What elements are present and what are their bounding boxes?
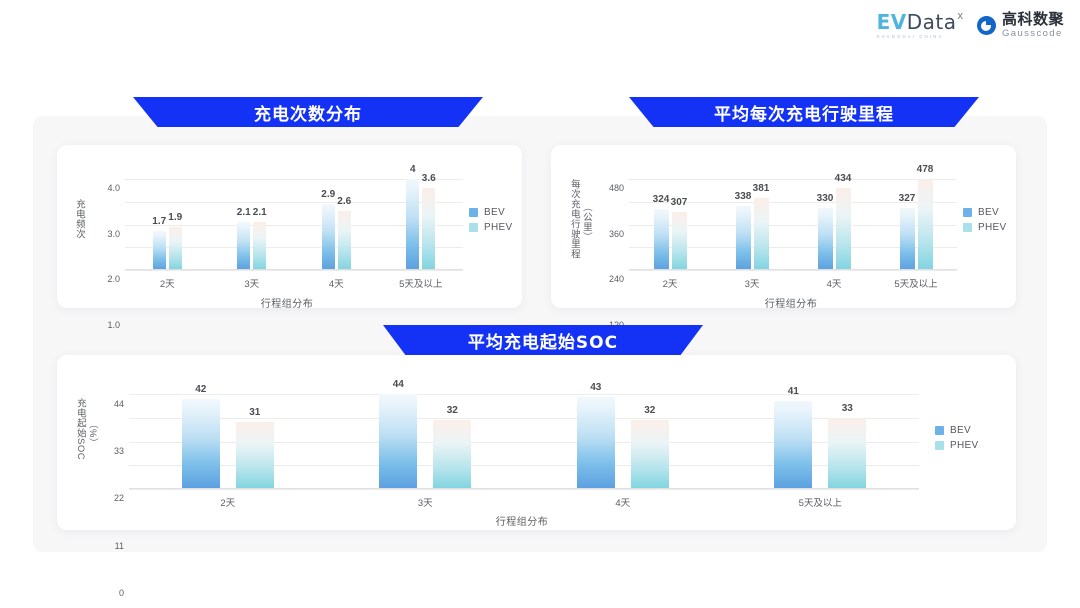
chart-charging-frequency: 充电频次 0.01.02.03.04.01.71.92.12.12.92.643… bbox=[57, 145, 522, 308]
x-axis-tick-label: 3天 bbox=[711, 276, 793, 290]
chart-title-banner-avg-range: 平均每次充电行驶里程 bbox=[629, 97, 979, 127]
legend-item-phev[interactable]: PHEV bbox=[469, 222, 512, 233]
bar-group: 1.71.9 bbox=[125, 170, 210, 270]
legend-label: BEV bbox=[484, 207, 505, 218]
legend-label: PHEV bbox=[950, 440, 978, 451]
chart-legend: BEVPHEV bbox=[469, 207, 512, 233]
y-axis-tick-label: 0 bbox=[119, 588, 124, 598]
x-axis-tick-label: 2天 bbox=[629, 276, 711, 290]
gausscode-en-name: Gausscode bbox=[1002, 29, 1064, 39]
chart-title-text: 平均充电起始SOC bbox=[468, 328, 618, 353]
gausscode-cn-name: 高科数聚 bbox=[1002, 12, 1064, 27]
legend-label: BEV bbox=[950, 425, 971, 436]
x-axis-tick-label: 4天 bbox=[524, 495, 722, 509]
bar-bev: 41 bbox=[774, 401, 812, 489]
chart-avg-start-soc: 充电起始SOC （%） 0112233444231443243324133 2天… bbox=[57, 355, 1016, 530]
bar-bev: 42 bbox=[182, 399, 220, 489]
gridline: 0 bbox=[629, 270, 957, 271]
bar-phev: 33 bbox=[828, 418, 866, 489]
x-axis-tick-labels: 2天3天4天5天及以上 bbox=[629, 276, 957, 290]
bar-groups: 4231443243324133 bbox=[129, 385, 919, 489]
bar-groups: 324307338381330434327478 bbox=[629, 170, 957, 270]
x-axis-baseline bbox=[629, 269, 957, 270]
legend-item-bev[interactable]: BEV bbox=[935, 425, 978, 436]
y-axis-tick-label: 240 bbox=[609, 274, 624, 284]
bar-value-label: 434 bbox=[835, 173, 852, 184]
x-axis-tick-label: 2天 bbox=[129, 495, 327, 509]
bar-value-label: 338 bbox=[735, 191, 752, 202]
y-axis-tick-label: 11 bbox=[115, 541, 124, 551]
legend-swatch-icon bbox=[935, 426, 944, 435]
y-axis-tick-label: 33 bbox=[114, 446, 124, 456]
bar-bev: 324 bbox=[654, 209, 669, 270]
y-axis-tick-label: 2.0 bbox=[107, 274, 120, 284]
y-axis-tick-label: 22 bbox=[114, 493, 124, 503]
chart-card-avg-range: 每次充电行驶里程 （公里） 01202403604803243073383813… bbox=[551, 145, 1016, 308]
plot-area: 0120240360480324307338381330434327478 bbox=[629, 170, 957, 270]
bar-bev: 330 bbox=[818, 208, 833, 271]
x-axis-title: 行程组分布 bbox=[97, 295, 477, 310]
bar-value-label: 1.9 bbox=[168, 212, 182, 223]
legend-item-bev[interactable]: BEV bbox=[963, 207, 1006, 218]
bar-phev: 2.6 bbox=[338, 211, 351, 270]
gridline: 0.0 bbox=[125, 270, 463, 271]
evdata-superscript-x: x bbox=[957, 10, 963, 22]
bar-phev: 32 bbox=[433, 420, 471, 489]
y-axis-tick-label: 480 bbox=[609, 183, 624, 193]
y-axis-tick-label: 3.0 bbox=[107, 229, 120, 239]
bar-value-label: 2.1 bbox=[253, 207, 267, 218]
bar-bev: 2.1 bbox=[237, 222, 250, 270]
bar-bev: 4 bbox=[406, 179, 419, 270]
bar-value-label: 4 bbox=[410, 164, 416, 175]
evdata-data-text: Data bbox=[907, 12, 957, 32]
x-axis-title: 行程组分布 bbox=[601, 295, 981, 310]
bar-value-label: 2.9 bbox=[321, 189, 335, 200]
bar-value-label: 2.1 bbox=[237, 207, 251, 218]
chart-title-text: 充电次数分布 bbox=[254, 100, 362, 125]
bar-group: 43.6 bbox=[379, 170, 464, 270]
y-axis-tick-label: 44 bbox=[114, 399, 124, 409]
y-axis-label-line1: 每次充电行驶里程 bbox=[568, 167, 579, 271]
bar-phev: 31 bbox=[236, 422, 274, 489]
bar-value-label: 327 bbox=[899, 193, 916, 204]
y-axis-tick-label: 1.0 bbox=[107, 320, 120, 330]
bar-value-label: 41 bbox=[788, 386, 799, 397]
evdata-logo: EV Data x shanghai china bbox=[877, 12, 963, 39]
legend-item-phev[interactable]: PHEV bbox=[935, 440, 978, 451]
bar-value-label: 307 bbox=[671, 197, 688, 208]
bar-value-label: 42 bbox=[195, 384, 206, 395]
y-axis-label-line1: 充电起始SOC bbox=[74, 383, 85, 475]
x-axis-tick-label: 5天及以上 bbox=[379, 276, 464, 290]
x-axis-tick-label: 3天 bbox=[327, 495, 525, 509]
bar-group: 2.92.6 bbox=[294, 170, 379, 270]
gausscode-logo: 高科数聚 Gausscode bbox=[977, 12, 1064, 39]
bar-group: 338381 bbox=[711, 170, 793, 270]
bar-value-label: 32 bbox=[447, 405, 458, 416]
x-axis-tick-labels: 2天3天4天5天及以上 bbox=[129, 495, 919, 509]
legend-swatch-icon bbox=[935, 441, 944, 450]
x-axis-baseline bbox=[129, 488, 919, 489]
legend-label: BEV bbox=[978, 207, 999, 218]
plot-area: 0.01.02.03.04.01.71.92.12.12.92.643.6 bbox=[125, 170, 463, 270]
bar-value-label: 33 bbox=[842, 403, 853, 414]
chart-title-banner-avg-start-soc: 平均充电起始SOC bbox=[383, 325, 703, 355]
bar-group: 4231 bbox=[129, 385, 327, 489]
chart-title-text: 平均每次充电行驶里程 bbox=[714, 100, 894, 125]
bar-value-label: 381 bbox=[753, 183, 770, 194]
brand-logo-bar: EV Data x shanghai china 高科数聚 Gausscode bbox=[877, 12, 1064, 39]
legend-label: PHEV bbox=[484, 222, 512, 233]
bar-value-label: 43 bbox=[590, 382, 601, 393]
y-axis-tick-label: 360 bbox=[609, 229, 624, 239]
bar-value-label: 2.6 bbox=[337, 196, 351, 207]
bar-value-label: 3.6 bbox=[422, 173, 436, 184]
chart-legend: BEVPHEV bbox=[935, 425, 978, 451]
bar-group: 330434 bbox=[793, 170, 875, 270]
bar-group: 2.12.1 bbox=[210, 170, 295, 270]
legend-swatch-icon bbox=[469, 208, 478, 217]
bar-group: 4133 bbox=[722, 385, 920, 489]
bar-phev: 307 bbox=[672, 212, 687, 270]
bar-value-label: 330 bbox=[817, 193, 834, 204]
bar-phev: 32 bbox=[631, 420, 669, 489]
bar-phev: 381 bbox=[754, 198, 769, 270]
bar-group: 327478 bbox=[875, 170, 957, 270]
bar-bev: 1.7 bbox=[153, 231, 166, 270]
y-axis-label-line2: （公里） bbox=[580, 197, 591, 247]
bar-bev: 2.9 bbox=[322, 204, 335, 270]
y-axis-label: 充电频次 bbox=[73, 177, 84, 261]
gridline: 0 bbox=[129, 489, 919, 490]
evdata-ev-text: EV bbox=[877, 12, 907, 32]
bar-phev: 3.6 bbox=[422, 188, 435, 270]
legend-swatch-icon bbox=[469, 223, 478, 232]
x-axis-tick-label: 5天及以上 bbox=[875, 276, 957, 290]
x-axis-tick-label: 4天 bbox=[294, 276, 379, 290]
bar-value-label: 31 bbox=[249, 407, 260, 418]
gausscode-wordmark: 高科数聚 Gausscode bbox=[1002, 12, 1064, 39]
bar-group: 4332 bbox=[524, 385, 722, 489]
bar-phev: 1.9 bbox=[169, 227, 182, 270]
bar-value-label: 478 bbox=[917, 164, 934, 175]
bar-groups: 1.71.92.12.12.92.643.6 bbox=[125, 170, 463, 270]
g-circle-icon bbox=[977, 16, 996, 35]
chart-legend: BEVPHEV bbox=[963, 207, 1006, 233]
bar-bev: 43 bbox=[577, 397, 615, 489]
x-axis-tick-label: 4天 bbox=[793, 276, 875, 290]
bar-bev: 327 bbox=[900, 208, 915, 270]
chart-title-banner-charging-frequency: 充电次数分布 bbox=[133, 97, 483, 127]
evdata-wordmark: EV Data x bbox=[877, 12, 963, 32]
legend-item-phev[interactable]: PHEV bbox=[963, 222, 1006, 233]
bar-phev: 434 bbox=[836, 188, 851, 270]
x-axis-baseline bbox=[125, 269, 463, 270]
bar-phev: 478 bbox=[918, 179, 933, 270]
x-axis-tick-label: 3天 bbox=[210, 276, 295, 290]
plot-area: 0112233444231443243324133 bbox=[129, 385, 919, 489]
x-axis-tick-label: 5天及以上 bbox=[722, 495, 920, 509]
y-axis-tick-label: 4.0 bbox=[107, 183, 120, 193]
evdata-sublabel: shanghai china bbox=[877, 34, 944, 39]
bar-value-label: 1.7 bbox=[152, 216, 166, 227]
y-axis-label-line2: （%） bbox=[86, 413, 97, 453]
bar-value-label: 32 bbox=[644, 405, 655, 416]
bar-value-label: 44 bbox=[393, 379, 404, 390]
bar-bev: 44 bbox=[379, 394, 417, 489]
legend-item-bev[interactable]: BEV bbox=[469, 207, 512, 218]
legend-swatch-icon bbox=[963, 208, 972, 217]
bar-group: 324307 bbox=[629, 170, 711, 270]
legend-swatch-icon bbox=[963, 223, 972, 232]
chart-avg-range-per-charge: 每次充电行驶里程 （公里） 01202403604803243073383813… bbox=[551, 145, 1016, 308]
legend-label: PHEV bbox=[978, 222, 1006, 233]
chart-card-avg-start-soc: 充电起始SOC （%） 0112233444231443243324133 2天… bbox=[57, 355, 1016, 530]
chart-card-charging-frequency: 充电频次 0.01.02.03.04.01.71.92.12.12.92.643… bbox=[57, 145, 522, 308]
x-axis-tick-label: 2天 bbox=[125, 276, 210, 290]
bar-phev: 2.1 bbox=[253, 222, 266, 270]
bar-bev: 338 bbox=[736, 206, 751, 270]
x-axis-tick-labels: 2天3天4天5天及以上 bbox=[125, 276, 463, 290]
bar-group: 4432 bbox=[327, 385, 525, 489]
bar-value-label: 324 bbox=[653, 194, 670, 205]
x-axis-title: 行程组分布 bbox=[117, 513, 927, 528]
